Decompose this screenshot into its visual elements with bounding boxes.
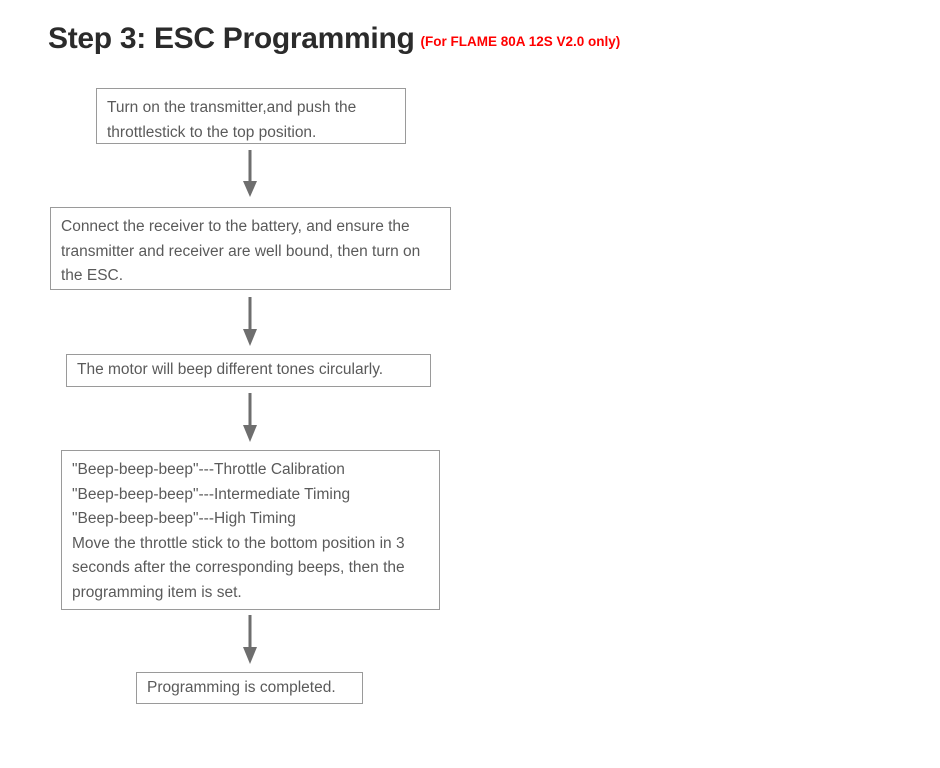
flow-step-4: "Beep-beep-beep"---Throttle Calibration … bbox=[61, 450, 440, 610]
page-title: Step 3: ESC Programming(For FLAME 80A 12… bbox=[48, 22, 620, 56]
page-title-main: Step 3: ESC Programming bbox=[48, 22, 415, 55]
flow-step-3: The motor will beep different tones circ… bbox=[66, 354, 431, 387]
flow-step-1: Turn on the transmitter,and push the thr… bbox=[96, 88, 406, 144]
flow-step-2: Connect the receiver to the battery, and… bbox=[50, 207, 451, 290]
down-arrow-icon bbox=[242, 297, 258, 347]
down-arrow-icon bbox=[242, 150, 258, 198]
down-arrow-icon bbox=[242, 393, 258, 443]
flow-step-5: Programming is completed. bbox=[136, 672, 363, 704]
page-title-note: (For FLAME 80A 12S V2.0 only) bbox=[421, 34, 621, 49]
down-arrow-icon bbox=[242, 615, 258, 665]
